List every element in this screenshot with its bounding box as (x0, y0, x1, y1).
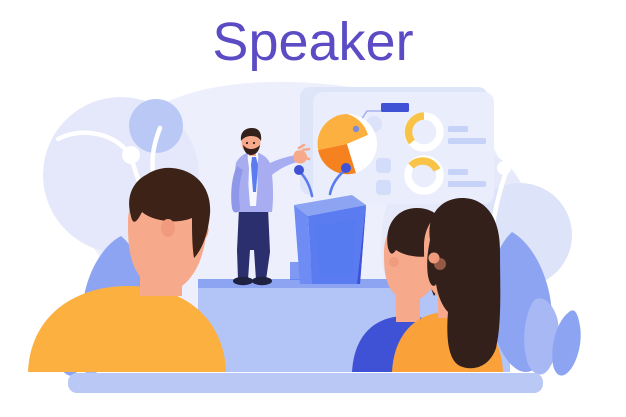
speaker-shoe-left (233, 277, 253, 285)
speaker-shoe-right (252, 277, 272, 285)
podium (294, 195, 366, 284)
presentation-board (300, 87, 494, 204)
bottom-accent-bar (68, 373, 543, 393)
podium-panel-inset (316, 220, 356, 276)
microphone-head-left (294, 165, 304, 175)
illustration-canvas: Speaker (0, 0, 626, 417)
speaker-eye (253, 142, 255, 144)
audience-center-ear (389, 257, 399, 267)
donut-top-bar-long (448, 138, 486, 144)
board-decor-square-2 (376, 180, 391, 195)
audience-right-cheek (434, 258, 446, 270)
board-decor-square-1 (376, 158, 391, 173)
donut-top-bar-short (448, 126, 468, 132)
donut-bottom-bar-long (448, 181, 486, 187)
speaker-eye (246, 142, 248, 144)
microphone-head-right (341, 163, 351, 173)
donut-bottom-bar-short (448, 169, 468, 175)
audience-left-ear (161, 219, 175, 237)
speaker-illustration: Speaker (0, 0, 626, 417)
page-title: Speaker (212, 12, 413, 72)
